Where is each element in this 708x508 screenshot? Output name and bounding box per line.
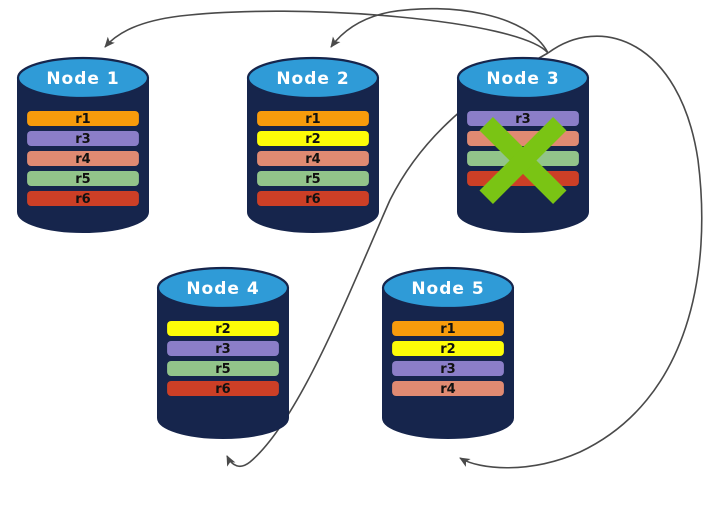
node-1-cylinder[interactable]: Node 1r1r3r4r5r6 — [18, 58, 148, 232]
node-1-replica-label-r1: r1 — [75, 112, 90, 127]
node-5-replica-label-r4: r4 — [440, 382, 455, 397]
node-2-replica-label-r6: r6 — [305, 192, 320, 207]
node-4-replica-label-r2: r2 — [215, 322, 230, 337]
node-5-replica-label-r3: r3 — [440, 362, 455, 377]
node-1-replica-label-r6: r6 — [75, 192, 90, 207]
arrow-to-node-2 — [331, 9, 548, 53]
node-2-replica-label-r2: r2 — [305, 132, 320, 147]
node-5-replica-label-r1: r1 — [440, 322, 455, 337]
node-1-replica-label-r4: r4 — [75, 152, 90, 167]
node-4-label: Node 4 — [186, 279, 259, 299]
diagram-root: Node 1r1r3r4r5r6Node 2r1r2r4r5r6Node 3r3… — [0, 0, 708, 508]
node-5-cylinder[interactable]: Node 5r1r2r3r4 — [383, 268, 513, 438]
node-5-label: Node 5 — [411, 279, 484, 299]
node-4-replica-label-r3: r3 — [215, 342, 230, 357]
node-4-cylinder[interactable]: Node 4r2r3r5r6 — [158, 268, 288, 438]
node-2-label: Node 2 — [276, 69, 349, 89]
node-3-cylinder[interactable]: Node 3r3 — [458, 58, 588, 232]
node-1-replica-label-r3: r3 — [75, 132, 90, 147]
node-3-replica-label-r3: r3 — [515, 112, 530, 127]
node-1-replica-label-r5: r5 — [75, 172, 90, 187]
nodes-layer: Node 1r1r3r4r5r6Node 2r1r2r4r5r6Node 3r3… — [18, 58, 588, 438]
node-replication-diagram: Node 1r1r3r4r5r6Node 2r1r2r4r5r6Node 3r3… — [0, 0, 708, 508]
node-4-replica-label-r5: r5 — [215, 362, 230, 377]
node-5-replica-label-r2: r2 — [440, 342, 455, 357]
node-1-label: Node 1 — [46, 69, 119, 89]
node-4-replica-label-r6: r6 — [215, 382, 230, 397]
node-3-label: Node 3 — [486, 69, 559, 89]
arrow-to-node-1 — [105, 11, 548, 53]
node-2-cylinder[interactable]: Node 2r1r2r4r5r6 — [248, 58, 378, 232]
node-2-replica-label-r1: r1 — [305, 112, 320, 127]
node-2-replica-label-r4: r4 — [305, 152, 320, 167]
node-2-replica-label-r5: r5 — [305, 172, 320, 187]
